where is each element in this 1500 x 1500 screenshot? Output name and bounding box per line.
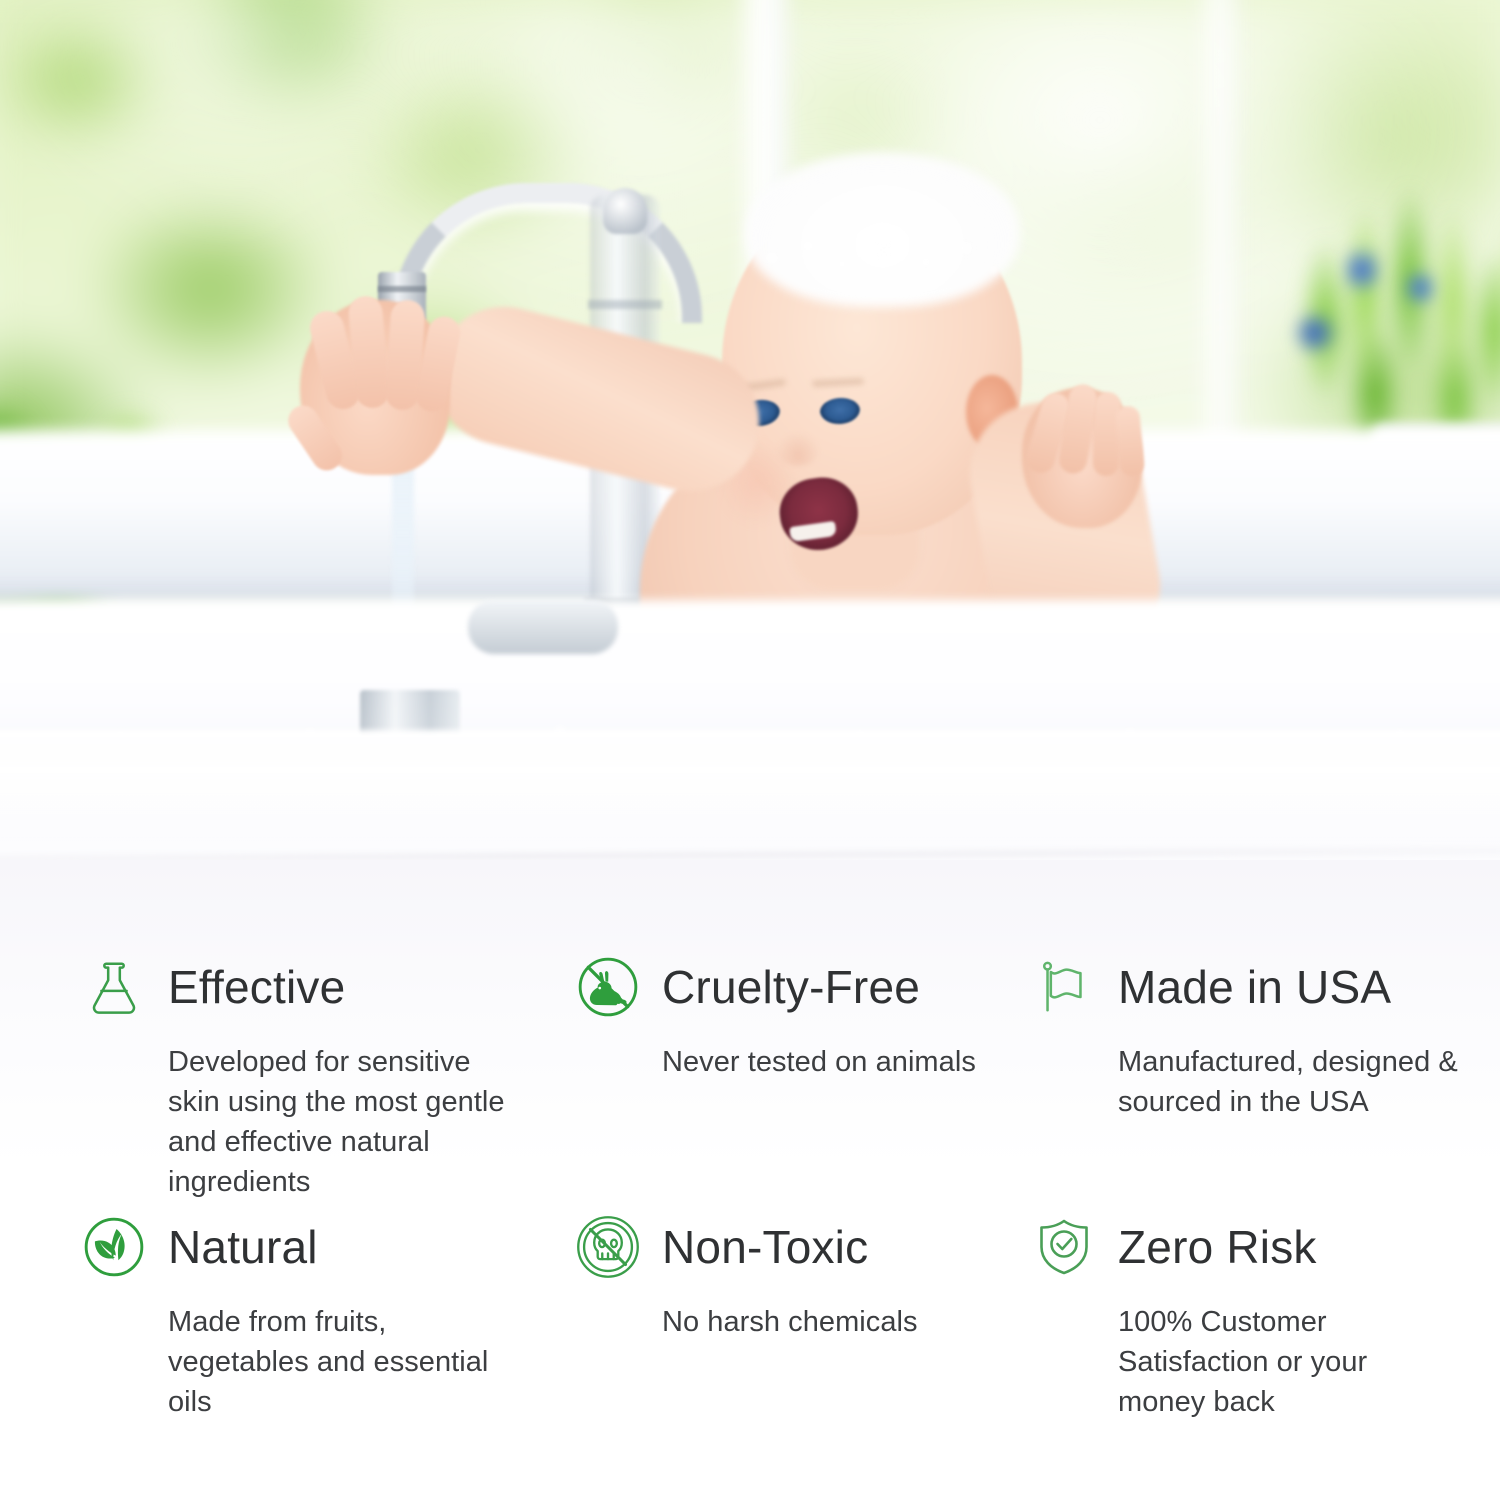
benefit-title: Cruelty-Free <box>662 964 920 1010</box>
benefit-item-non-toxic: Non-Toxic No harsh chemicals <box>572 1208 1002 1342</box>
benefit-description: Manufactured, designed & sourced in the … <box>1118 1042 1458 1122</box>
faucet-valve-knob <box>603 188 647 234</box>
benefit-header: Effective <box>78 948 508 1026</box>
benefit-description: Made from fruits, vegetables and essenti… <box>168 1302 508 1422</box>
benefit-item-cruelty-free: Cruelty-Free Never tested on animals <box>572 948 1002 1082</box>
hero-photo <box>0 0 1500 880</box>
benefit-description: Never tested on animals <box>662 1042 1002 1082</box>
blue-flower <box>1345 240 1379 300</box>
benefit-header: Natural <box>78 1208 508 1286</box>
leaves-icon <box>78 1211 150 1283</box>
benefit-title: Made in USA <box>1118 964 1391 1010</box>
window-frame-mullion-right <box>1202 0 1236 450</box>
benefit-header: Cruelty-Free <box>572 948 1002 1026</box>
benefit-header: Zero Risk <box>1028 1208 1458 1286</box>
flag-icon <box>1028 951 1100 1023</box>
benefit-description: No harsh chemicals <box>662 1302 1002 1342</box>
benefit-title: Effective <box>168 964 345 1010</box>
benefit-title: Natural <box>168 1224 318 1270</box>
benefit-title: Zero Risk <box>1118 1224 1317 1270</box>
no-rabbit-icon <box>572 951 644 1023</box>
benefit-item-effective: Effective Developed for sensitive skin u… <box>78 948 508 1202</box>
benefit-item-zero-risk: Zero Risk 100% Customer Satisfaction or … <box>1028 1208 1458 1422</box>
blue-flower <box>1292 310 1338 356</box>
benefit-header: Non-Toxic <box>572 1208 1002 1286</box>
benefit-header: Made in USA <box>1028 948 1458 1026</box>
baby-nose <box>776 432 820 466</box>
benefits-panel: Effective Developed for sensitive skin u… <box>0 860 1500 1500</box>
benefit-description: 100% Customer Satisfaction or your money… <box>1118 1302 1458 1422</box>
benefit-item-made-in-usa: Made in USA Manufactured, designed & sou… <box>1028 948 1458 1122</box>
soap-bubbles <box>750 230 1010 300</box>
benefit-description: Developed for sensitive skin using the m… <box>168 1042 508 1202</box>
no-skull-icon <box>572 1211 644 1283</box>
faucet-handle <box>468 600 618 654</box>
blue-flower <box>1405 265 1435 311</box>
shield-check-icon <box>1028 1211 1100 1283</box>
product-benefits-infographic: Effective Developed for sensitive skin u… <box>0 0 1500 1500</box>
counter-highlight <box>0 760 1500 850</box>
faucet-valve-band <box>588 300 662 309</box>
flask-icon <box>78 951 150 1023</box>
benefit-title: Non-Toxic <box>662 1224 868 1270</box>
faucet-aerator-band <box>378 286 426 292</box>
benefit-item-natural: Natural Made from fruits, vegetables and… <box>78 1208 508 1422</box>
